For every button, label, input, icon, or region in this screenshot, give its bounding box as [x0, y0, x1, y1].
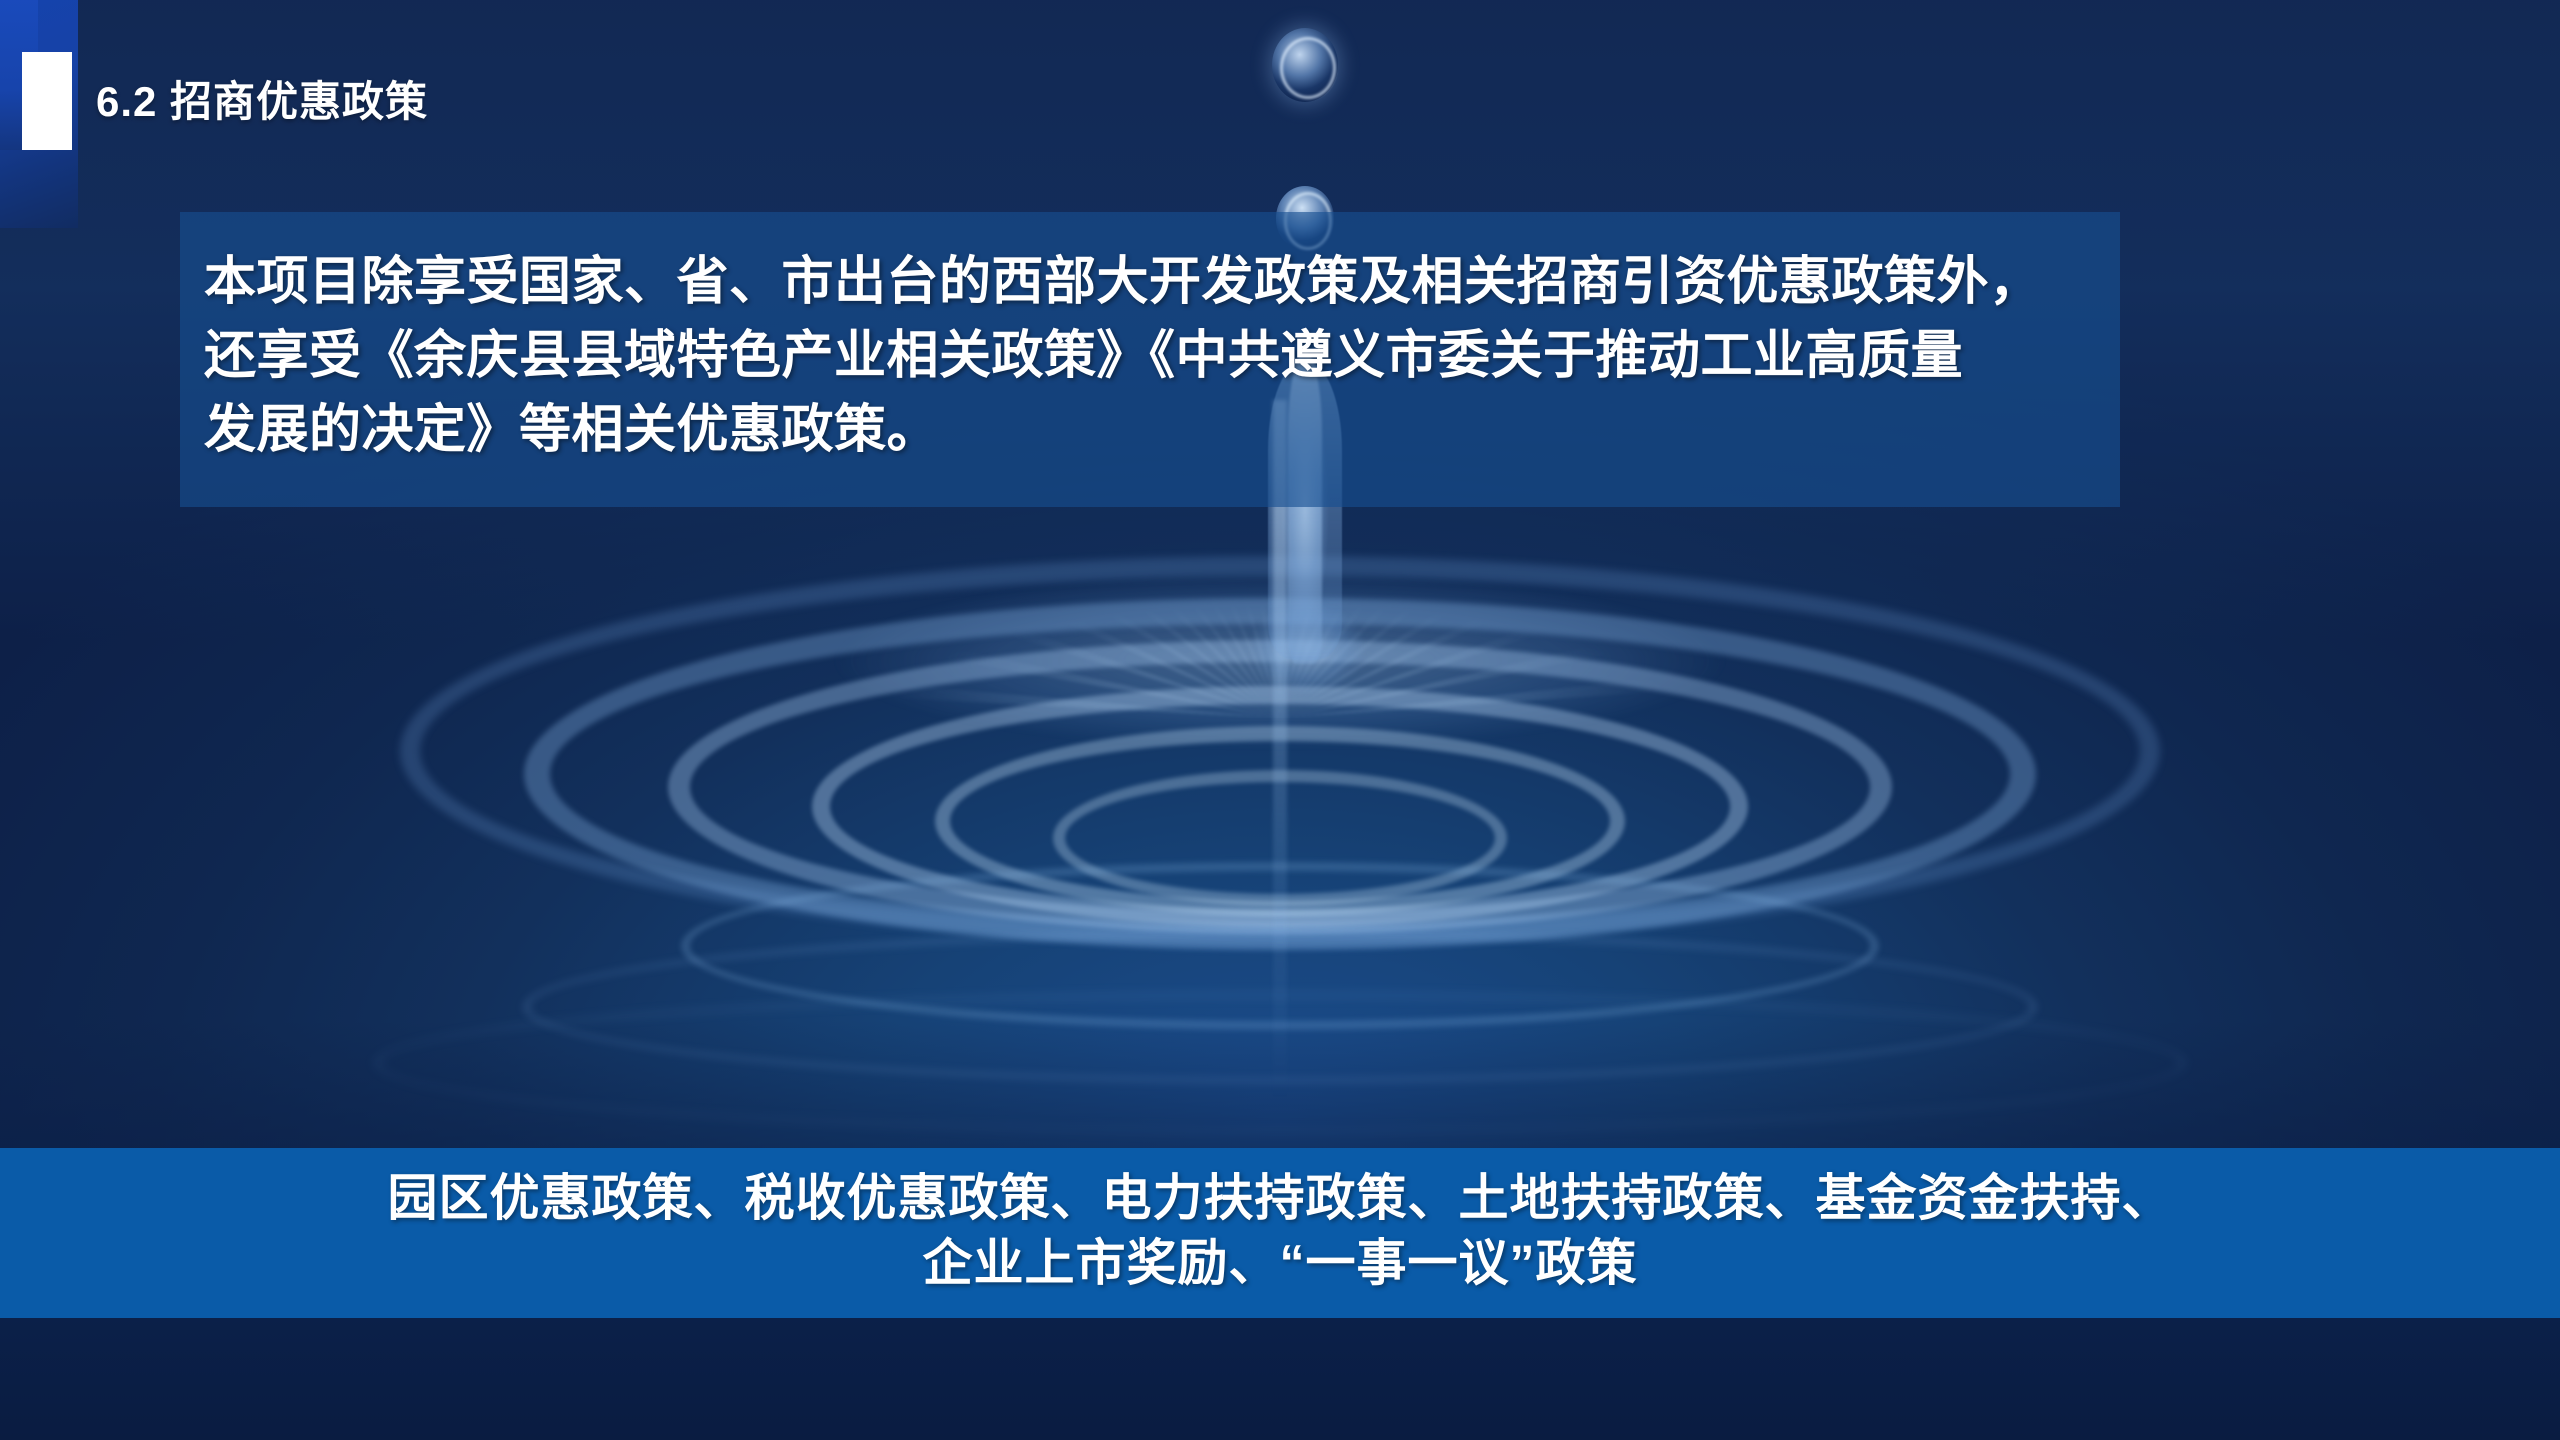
body-text-line: 还享受《余庆县县域特色产业相关政策》《中共遵义市委关于推动工业高质量 — [204, 320, 2080, 394]
banner-text-line: 企业上市奖励、“一事一议”政策 — [0, 1231, 2560, 1296]
policy-summary-banner: 园区优惠政策、税收优惠政策、电力扶持政策、土地扶持政策、基金资金扶持、 企业上市… — [0, 1148, 2560, 1318]
slide-canvas: 6.2 招商优惠政策 本项目除享受国家、省、市出台的西部大开发政策及相关招商引资… — [0, 0, 2560, 1440]
slide-header: 6.2 招商优惠政策 — [0, 0, 2560, 180]
banner-text-line: 园区优惠政策、税收优惠政策、电力扶持政策、土地扶持政策、基金资金扶持、 — [0, 1166, 2560, 1231]
body-text-panel: 本项目除享受国家、省、市出台的西部大开发政策及相关招商引资优惠政策外， 还享受《… — [180, 212, 2120, 507]
bottom-strip — [0, 1318, 2560, 1440]
header-accent-bar — [22, 52, 72, 150]
page-title: 6.2 招商优惠政策 — [96, 68, 428, 129]
body-text-line: 发展的决定》等相关优惠政策。 — [204, 394, 2080, 468]
body-text-line: 本项目除享受国家、省、市出台的西部大开发政策及相关招商引资优惠政策外， — [204, 246, 2080, 320]
